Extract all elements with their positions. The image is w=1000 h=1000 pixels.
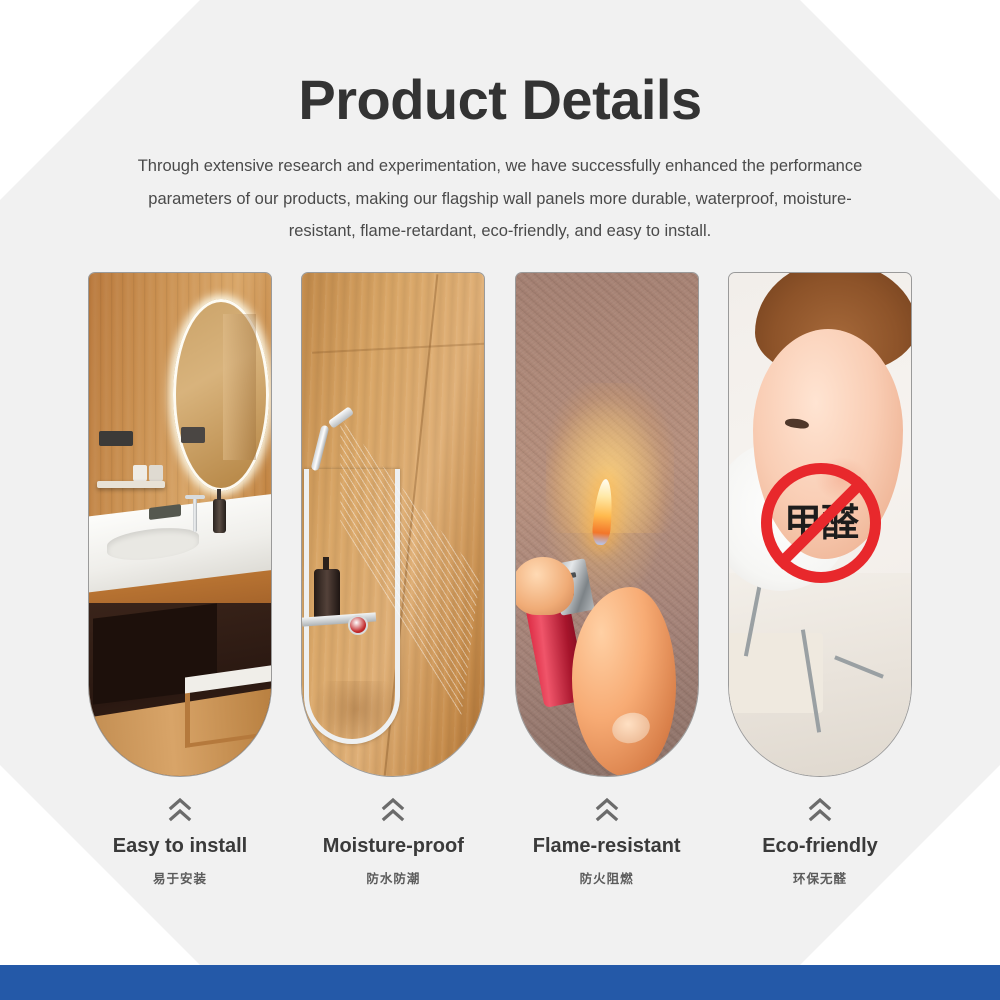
mirror-switch-icon — [181, 427, 205, 443]
feature-card-flame-resistant[interactable]: Flame-resistant 防火阻燃 — [515, 272, 699, 887]
bathroom-vanity-photo — [89, 273, 271, 776]
cup-left — [133, 465, 147, 482]
feature-label-en: Easy to install — [113, 835, 248, 858]
baby-no-formaldehyde-photo: 甲醛 — [729, 273, 911, 776]
no-formaldehyde-icon: 甲醛 — [761, 463, 881, 583]
feature-card-eco-friendly[interactable]: 甲醛 Eco-friendly 环保无醛 — [728, 272, 912, 887]
feature-label-cn: 易于安装 — [153, 868, 207, 887]
soap-dispenser — [213, 499, 226, 533]
page-description: Through extensive research and experimen… — [120, 150, 880, 247]
index-finger — [515, 557, 574, 615]
feature-image-flame-resistant[interactable] — [515, 272, 699, 777]
feature-label-cn: 防火阻燃 — [580, 868, 634, 887]
feature-panel-row: Easy to install 易于安装 — [88, 272, 912, 887]
double-chevron-up-icon — [806, 795, 834, 825]
lighter-flame-photo — [516, 273, 698, 776]
wall-shelf — [97, 481, 165, 488]
bottom-blue-bar — [0, 965, 1000, 1000]
shower-spray-photo — [302, 273, 484, 776]
page-title: Product Details — [0, 68, 1000, 132]
feature-label-en: Moisture-proof — [323, 835, 464, 858]
double-chevron-up-icon — [379, 795, 407, 825]
feature-label-cn: 防水防潮 — [366, 868, 420, 887]
header-section: Product Details Through extensive resear… — [0, 68, 1000, 247]
feature-label-en: Eco-friendly — [762, 835, 878, 858]
feature-image-eco-friendly[interactable]: 甲醛 — [728, 272, 912, 777]
feature-label-en: Flame-resistant — [533, 835, 681, 858]
led-oval-mirror — [173, 299, 269, 491]
double-chevron-up-icon — [166, 795, 194, 825]
cup-right — [149, 465, 163, 482]
feature-card-moisture-proof[interactable]: Moisture-proof 防水防潮 — [301, 272, 485, 887]
feature-image-moisture-proof[interactable] — [301, 272, 485, 777]
feature-image-easy-to-install[interactable] — [88, 272, 272, 777]
double-chevron-up-icon — [593, 795, 621, 825]
faucet — [193, 498, 197, 532]
feature-card-easy-to-install[interactable]: Easy to install 易于安装 — [88, 272, 272, 887]
product-details-page: Product Details Through extensive resear… — [0, 0, 1000, 1000]
feature-label-cn: 环保无醛 — [793, 868, 847, 887]
mirror-reflection — [223, 314, 256, 460]
wall-switch-icon — [99, 431, 133, 446]
